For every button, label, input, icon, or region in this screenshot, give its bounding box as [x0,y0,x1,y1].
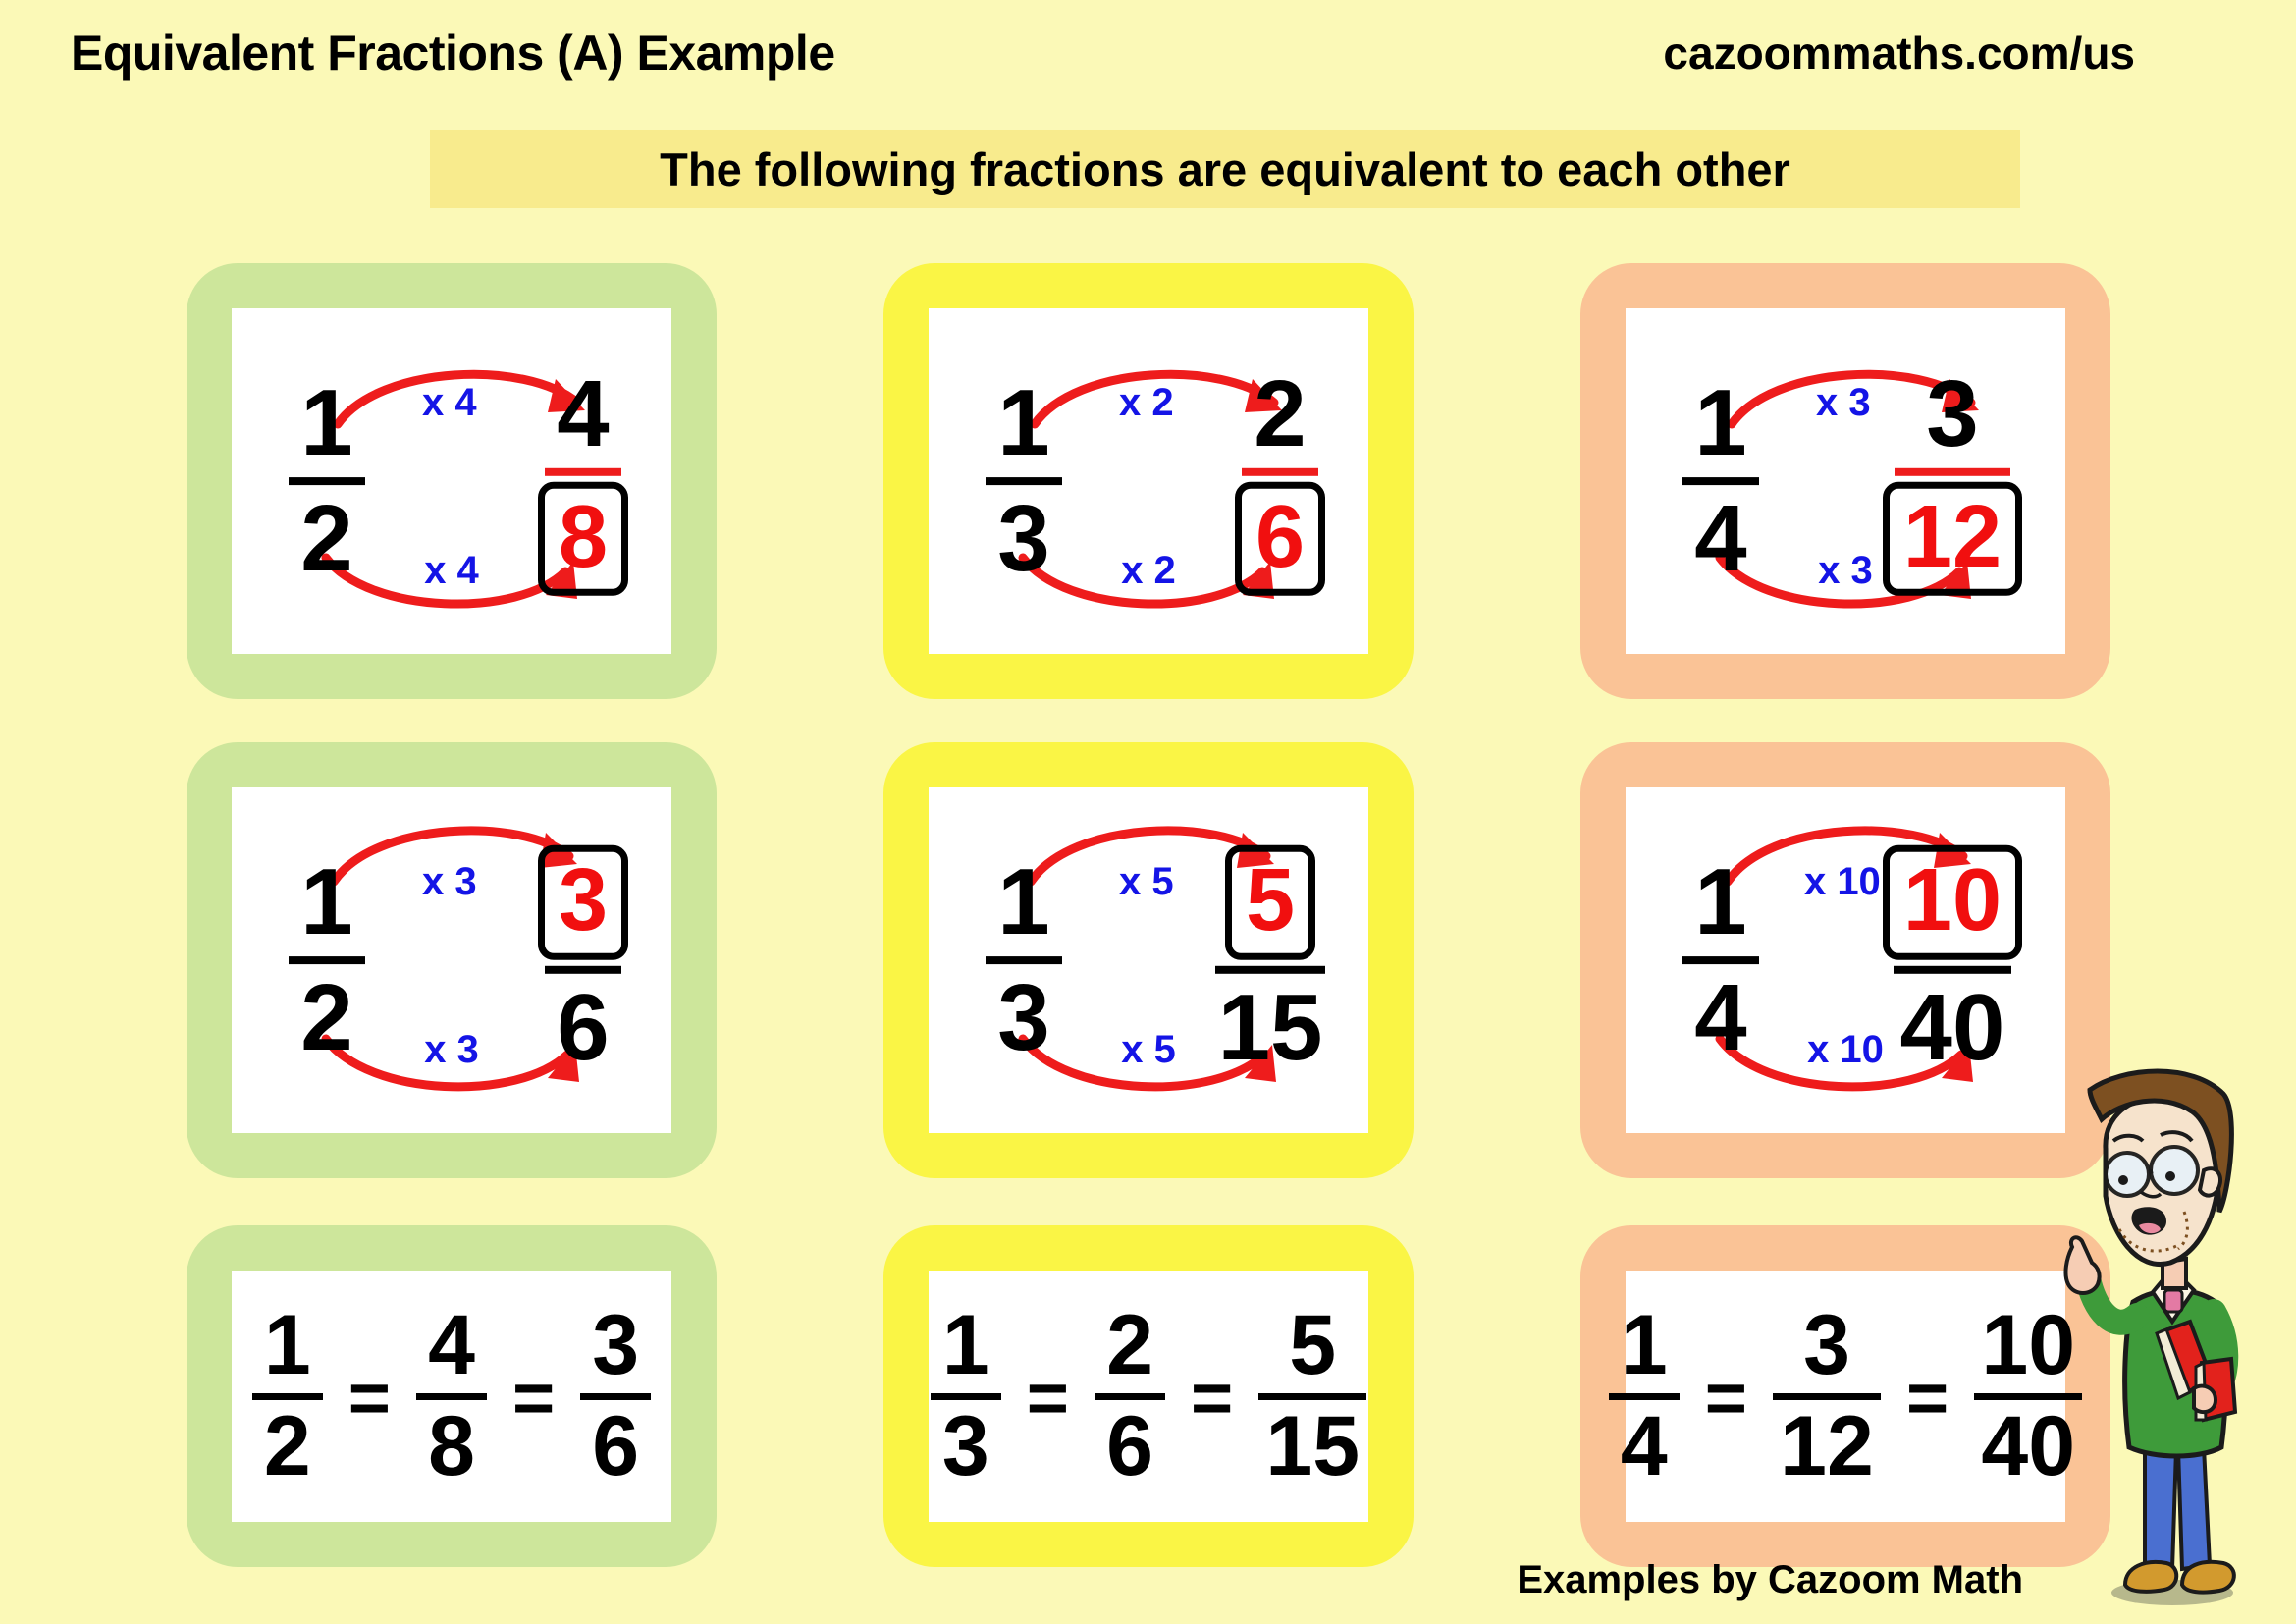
equivalence-chain: 1 3 = 2 6 = 5 15 [929,1271,1368,1522]
multiplier-bottom-label: x 3 [1818,549,1873,593]
numerator: 3 [1926,366,1978,462]
fraction-bar [1895,468,2010,476]
card-inner-panel: x 4 x 4 1 2 4 8 [232,308,671,654]
fraction-card-r2c3: x 10 x 10 1 4 10 40 [1580,742,2110,1178]
fraction-bar [1894,965,2011,973]
source-fraction: 1 3 [986,375,1062,587]
multiplier-bottom-label: x 10 [1807,1028,1884,1072]
fraction-bar [289,477,365,485]
summary-fraction-3: 3 6 [580,1303,651,1489]
answer-box[interactable]: 10 [1883,845,2022,960]
summary-card-r3c2: 1 3 = 2 6 = 5 15 [883,1225,1414,1567]
source-fraction: 1 2 [289,375,365,587]
equivalence-chain: 1 4 = 3 12 = 10 40 [1626,1271,2065,1522]
numerator: 4 [428,1303,475,1389]
result-fraction: 3 12 [1883,366,2022,596]
fraction-bar [1215,965,1325,973]
summary-fraction-2: 2 6 [1095,1303,1165,1489]
summary-fraction-1: 1 4 [1609,1303,1680,1489]
fraction-card-r2c2: x 5 x 5 1 3 5 15 [883,742,1414,1178]
denominator: 2 [300,970,352,1066]
equation-area: x 3 x 3 1 4 3 12 [1626,308,2065,654]
fraction-bar [545,965,621,973]
equivalence-chain: 1 2 = 4 8 = 3 6 [232,1271,671,1522]
fraction-bar [986,956,1062,964]
numerator: 1 [942,1303,989,1389]
multiplier-top-label: x 10 [1804,860,1881,904]
multiplier-top-label: x 3 [422,860,477,904]
numerator: 5 [1289,1303,1336,1389]
fraction-card-r1c2: x 2 x 2 1 3 2 6 [883,263,1414,699]
denominator: 6 [1106,1404,1153,1490]
answer-value: 6 [1255,491,1305,584]
card-inner-panel: x 5 x 5 1 3 5 15 [929,787,1368,1133]
denominator: 6 [557,979,609,1075]
numerator: 4 [557,366,609,462]
summary-fraction-3: 5 15 [1258,1303,1366,1489]
multiplier-top-label: x 2 [1119,381,1174,425]
equals-sign: = [1705,1362,1747,1435]
card-inner-panel: x 3 x 3 1 2 3 6 [232,787,671,1133]
numerator: 3 [1803,1303,1850,1389]
numerator: 1 [1694,854,1746,950]
site-url-label: cazoommaths.com/us [1663,27,2135,80]
numerator: 1 [1694,375,1746,471]
result-fraction: 4 8 [538,366,628,596]
denominator: 12 [1780,1404,1874,1490]
source-fraction: 1 3 [986,854,1062,1066]
fraction-card-r1c3: x 3 x 3 1 4 3 12 [1580,263,2110,699]
denominator: 3 [997,970,1049,1066]
card-inner-panel: x 3 x 3 1 4 3 12 [1626,308,2065,654]
multiplier-top-label: x 3 [1816,381,1871,425]
denominator: 3 [942,1404,989,1490]
answer-value: 10 [1903,854,2002,947]
denominator: 4 [1694,970,1746,1066]
card-inner-panel: x 2 x 2 1 3 2 6 [929,308,1368,654]
numerator: 1 [264,1303,311,1389]
answer-box[interactable]: 8 [538,482,628,597]
denominator: 40 [1900,979,2005,1075]
numerator: 1 [1621,1303,1668,1389]
answer-box[interactable]: 6 [1235,482,1325,597]
answer-value: 3 [559,854,608,947]
answer-value: 5 [1246,854,1295,947]
numerator: 1 [997,854,1049,950]
answer-box[interactable]: 5 [1225,845,1315,960]
denominator: 4 [1694,491,1746,587]
answer-box[interactable]: 3 [538,845,628,960]
summary-card-r3c3: 1 4 = 3 12 = 10 40 [1580,1225,2110,1567]
equals-sign: = [348,1362,391,1435]
numerator: 2 [1254,366,1306,462]
equation-area: x 10 x 10 1 4 10 40 [1626,787,2065,1133]
numerator: 1 [997,375,1049,471]
summary-card-r3c1: 1 2 = 4 8 = 3 6 [187,1225,717,1567]
summary-fraction-2: 4 8 [416,1303,487,1489]
denominator: 2 [300,491,352,587]
card-inner-panel: 1 4 = 3 12 = 10 40 [1626,1271,2065,1522]
page-title: Equivalent Fractions (A) Example [71,25,835,81]
fraction-card-r2c1: x 3 x 3 1 2 3 6 [187,742,717,1178]
numerator: 2 [1106,1303,1153,1389]
equals-sign: = [1191,1362,1233,1435]
equation-area: x 4 x 4 1 2 4 8 [232,308,671,654]
answer-value: 12 [1903,491,2002,584]
source-fraction: 1 4 [1682,375,1759,587]
equals-sign: = [1906,1362,1949,1435]
multiplier-bottom-label: x 2 [1121,549,1176,593]
teacher-mascot-icon [2047,1055,2292,1624]
card-inner-panel: 1 3 = 2 6 = 5 15 [929,1271,1368,1522]
source-fraction: 1 2 [289,854,365,1066]
fraction-bar [545,468,621,476]
card-inner-panel: x 10 x 10 1 4 10 40 [1626,787,2065,1133]
equation-area: x 5 x 5 1 3 5 15 [929,787,1368,1133]
fraction-bar [1242,468,1318,476]
result-fraction: 3 6 [538,845,628,1075]
denominator: 15 [1218,979,1323,1075]
denominator: 15 [1265,1404,1360,1490]
denominator: 2 [264,1404,311,1490]
page-header: Equivalent Fractions (A) Example cazoomm… [0,14,2296,92]
result-fraction: 10 40 [1883,845,2022,1075]
denominator: 3 [997,491,1049,587]
multiplier-top-label: x 5 [1119,860,1174,904]
footer-credit: Examples by Cazoom Math [1517,1558,2023,1602]
summary-fraction-1: 1 2 [252,1303,323,1489]
multiplier-bottom-label: x 4 [424,549,479,593]
fraction-bar [986,477,1062,485]
numerator: 3 [592,1303,639,1389]
equation-area: x 2 x 2 1 3 2 6 [929,308,1368,654]
summary-fraction-1: 1 3 [931,1303,1001,1489]
denominator: 4 [1621,1404,1668,1490]
multiplier-top-label: x 4 [422,381,477,425]
fraction-bar [289,956,365,964]
equation-area: x 3 x 3 1 2 3 6 [232,787,671,1133]
subtitle-banner: The following fractions are equivalent t… [430,130,2020,208]
result-fraction: 5 15 [1215,845,1325,1075]
multiplier-bottom-label: x 3 [424,1028,479,1072]
answer-value: 8 [559,491,608,584]
fraction-card-r1c1: x 4 x 4 1 2 4 8 [187,263,717,699]
equals-sign: = [512,1362,555,1435]
card-inner-panel: 1 2 = 4 8 = 3 6 [232,1271,671,1522]
result-fraction: 2 6 [1235,366,1325,596]
subtitle-text: The following fractions are equivalent t… [660,142,1790,196]
denominator: 6 [592,1404,639,1490]
numerator: 1 [300,854,352,950]
answer-box[interactable]: 12 [1883,482,2022,597]
fraction-bar [1682,477,1759,485]
multiplier-bottom-label: x 5 [1121,1028,1176,1072]
summary-fraction-2: 3 12 [1773,1303,1881,1489]
equals-sign: = [1027,1362,1069,1435]
numerator: 1 [300,375,352,471]
source-fraction: 1 4 [1682,854,1759,1066]
denominator: 8 [428,1404,475,1490]
fraction-bar [1682,956,1759,964]
